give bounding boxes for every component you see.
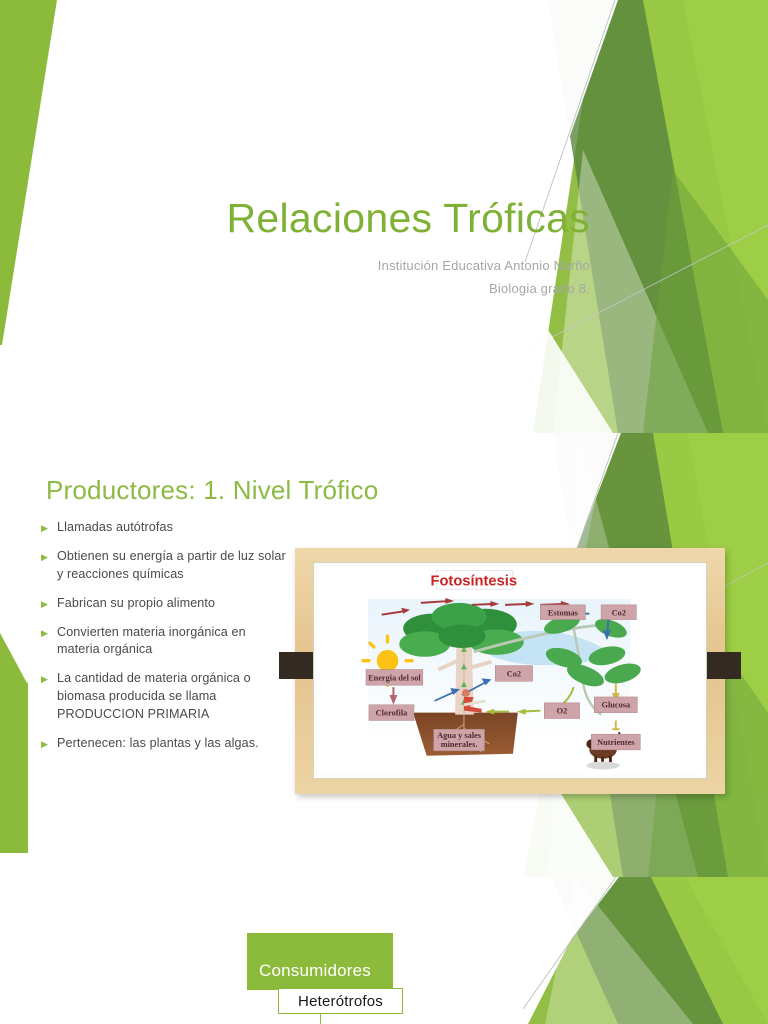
- label-co2-top: Co2: [601, 605, 636, 620]
- right-polygon-decoration: [523, 877, 768, 1024]
- label-clorofila: Clorofila: [369, 705, 414, 721]
- label-estomas: Estomas: [540, 605, 585, 620]
- connector-line: [320, 1014, 321, 1024]
- list-item: ▶ Llamadas autótrofas: [41, 519, 291, 537]
- triangle-bullet-icon: ▶: [41, 548, 57, 562]
- frame-clip-left-icon: [279, 652, 313, 679]
- frame-clip-right-icon: [707, 652, 741, 679]
- triangle-bullet-icon: ▶: [41, 624, 57, 638]
- list-item-label: Pertenecen: las plantas y las algas.: [57, 735, 259, 753]
- subtitle-block: Institución Educativa Antonio Narño Biol…: [0, 255, 590, 301]
- list-item: ▶ Convierten materia inorgánica en mater…: [41, 624, 291, 660]
- label-o2: O2: [544, 703, 579, 719]
- label-agua-sales: Agua y sales minerales.: [434, 729, 485, 751]
- box-heterotrofos-label: Heterótrofos: [298, 993, 383, 1010]
- presentation-deck: Relaciones Tróficas Institución Educativ…: [0, 0, 768, 1024]
- section-heading: Productores: 1. Nivel Trófico: [46, 475, 378, 506]
- slide-title: Relaciones Tróficas Institución Educativ…: [0, 0, 768, 433]
- svg-text:minerales.: minerales.: [441, 740, 478, 749]
- bullet-list: ▶ Llamadas autótrofas ▶ Obtienen su ener…: [41, 519, 291, 764]
- svg-text:Co2: Co2: [612, 609, 626, 618]
- slide-productores: Productores: 1. Nivel Trófico ▶ Llamadas…: [0, 433, 768, 877]
- svg-text:Nutrientes: Nutrientes: [597, 738, 635, 747]
- box-heterotrofos: Heterótrofos: [278, 988, 403, 1014]
- svg-text:O2: O2: [557, 707, 568, 716]
- list-item: ▶ Fabrican su propio alimento: [41, 595, 291, 613]
- triangle-bullet-icon: ▶: [41, 670, 57, 684]
- svg-text:Clorofila: Clorofila: [376, 709, 409, 718]
- label-co2-mid: Co2: [495, 666, 532, 682]
- photosynthesis-image-frame: Fotosíntesis: [295, 548, 725, 794]
- list-item: ▶ Pertenecen: las plantas y las algas.: [41, 735, 291, 753]
- svg-text:Agua y sales: Agua y sales: [437, 731, 482, 740]
- list-item-label: Fabrican su propio alimento: [57, 595, 215, 613]
- list-item-label: Obtienen su energía a partir de luz sola…: [57, 548, 291, 584]
- page-title: Relaciones Tróficas: [0, 196, 590, 241]
- label-glucosa: Glucosa: [594, 697, 637, 713]
- label-nutrientes: Nutrientes: [591, 734, 640, 750]
- subtitle-institution: Institución Educativa Antonio Narño: [0, 255, 590, 278]
- slide-consumidores: Consumidores Heterótrofos: [0, 877, 768, 1024]
- triangle-bullet-icon: ▶: [41, 735, 57, 749]
- list-item: ▶ La cantidad de materia orgánica o biom…: [41, 670, 291, 724]
- subtitle-course: Biologia grado 8.: [0, 278, 590, 301]
- svg-text:Co2: Co2: [507, 669, 521, 678]
- label-energia-sol: Energia del sol: [366, 670, 423, 686]
- list-item-label: Convierten materia inorgánica en materia…: [57, 624, 291, 660]
- list-item-label: La cantidad de materia orgánica o biomas…: [57, 670, 291, 724]
- svg-text:Energia del sol: Energia del sol: [368, 673, 421, 682]
- triangle-bullet-icon: ▶: [41, 519, 57, 533]
- list-item-label: Llamadas autótrofas: [57, 519, 173, 537]
- title-block: Relaciones Tróficas Institución Educativ…: [0, 196, 590, 301]
- box-consumidores: Consumidores: [247, 933, 393, 990]
- photo-inner-mat: Fotosíntesis: [313, 562, 707, 779]
- diagram-title: Fotosíntesis: [430, 573, 517, 589]
- triangle-bullet-icon: ▶: [41, 595, 57, 609]
- list-item: ▶ Obtienen su energía a partir de luz so…: [41, 548, 291, 584]
- box-consumidores-label: Consumidores: [259, 961, 371, 981]
- svg-text:Glucosa: Glucosa: [601, 701, 630, 710]
- svg-text:Estomas: Estomas: [548, 609, 579, 618]
- photosynthesis-diagram: Fotosíntesis: [317, 566, 703, 775]
